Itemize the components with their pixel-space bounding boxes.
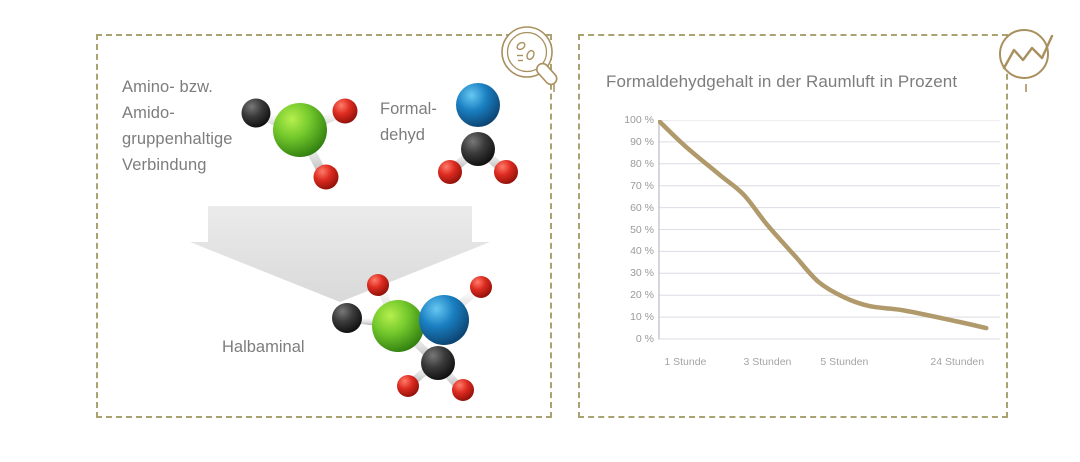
y-axis-tick-label: 70 % (608, 180, 654, 192)
chart-title: Formaldehydgehalt in der Raumluft in Pro… (606, 72, 957, 92)
trend-chart-circle-icon (992, 22, 1066, 96)
y-axis-tick-label: 30 % (608, 267, 654, 279)
y-axis-tick-label: 40 % (608, 245, 654, 257)
y-axis-tick-label: 100 % (608, 114, 654, 126)
x-axis-ticks: 1 Stunde3 Stunden5 Stunden24 Stunden (658, 356, 1000, 376)
y-axis-tick-label: 50 % (608, 224, 654, 236)
chart-plot-area (658, 120, 1000, 352)
x-axis-tick-label: 24 Stunden (930, 356, 984, 368)
chart-series-line (658, 120, 986, 328)
y-axis-tick-label: 0 % (608, 333, 654, 345)
line-chart: 100 %90 %80 %70 %60 %50 %40 %30 %20 %10 … (600, 120, 1000, 370)
y-axis-tick-label: 20 % (608, 289, 654, 301)
y-axis-tick-label: 80 % (608, 158, 654, 170)
x-axis-tick-label: 1 Stunde (664, 356, 706, 368)
x-axis-tick-label: 5 Stunden (820, 356, 868, 368)
y-axis-tick-label: 60 % (608, 202, 654, 214)
halbaminal-molecule (318, 270, 508, 402)
amino-compound-molecule (232, 80, 368, 196)
x-axis-tick-label: 3 Stunden (743, 356, 791, 368)
y-axis-tick-label: 90 % (608, 136, 654, 148)
y-axis-tick-label: 10 % (608, 311, 654, 323)
infographic-canvas: Amino- bzw. Amido- gruppenhaltige Verbin… (0, 0, 1080, 462)
y-axis-ticks: 100 %90 %80 %70 %60 %50 %40 %30 %20 %10 … (600, 120, 654, 350)
product-label: Halbaminal (222, 338, 305, 357)
formaldehyde-molecule (430, 70, 526, 190)
